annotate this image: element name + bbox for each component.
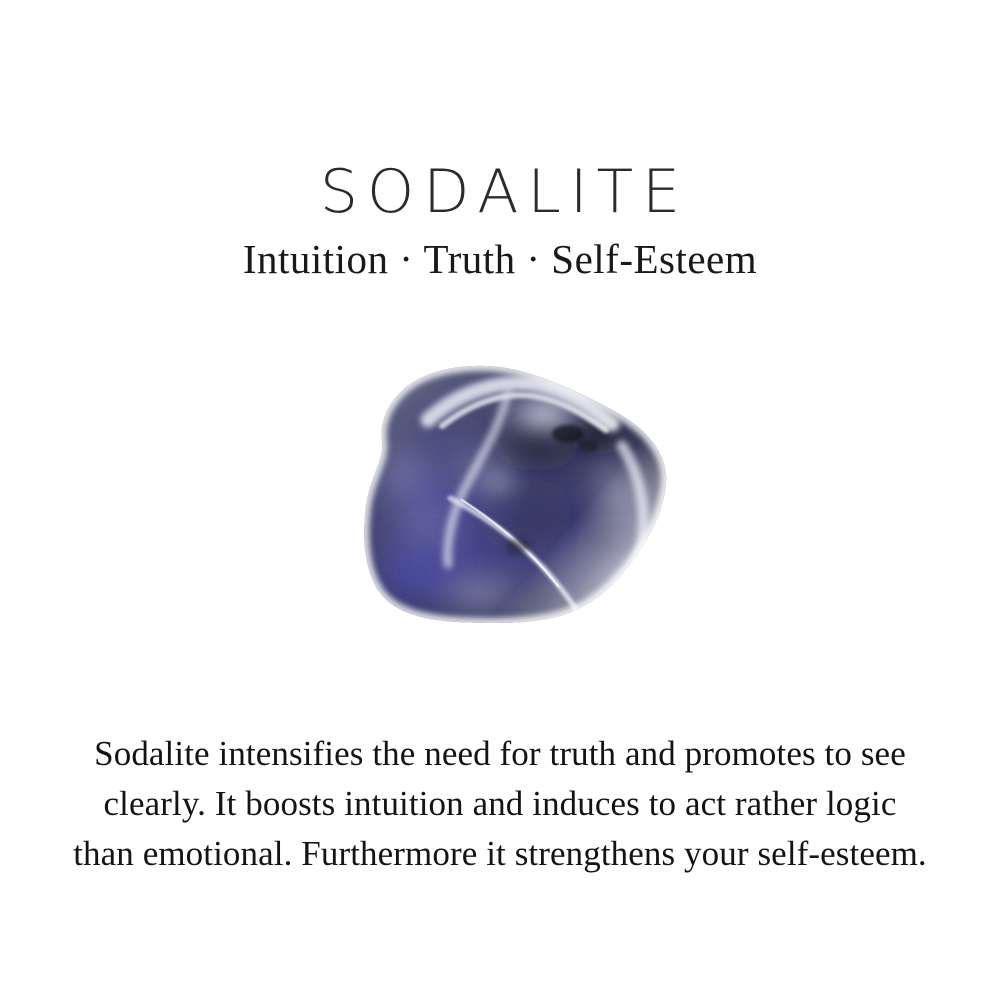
gemstone-image — [330, 350, 690, 650]
gemstone-info-card: SODALITE Intuition · Truth · Self-Esteem — [0, 0, 1000, 1000]
page-title: SODALITE — [0, 160, 1000, 224]
gem-keywords-subtitle: Intuition · Truth · Self-Esteem — [0, 234, 1000, 284]
stone-body — [330, 350, 690, 650]
sodalite-stone-illustration — [330, 350, 690, 650]
gem-description: Sodalite intensifies the need for truth … — [70, 729, 930, 879]
title-block: SODALITE Intuition · Truth · Self-Esteem — [0, 160, 1000, 284]
